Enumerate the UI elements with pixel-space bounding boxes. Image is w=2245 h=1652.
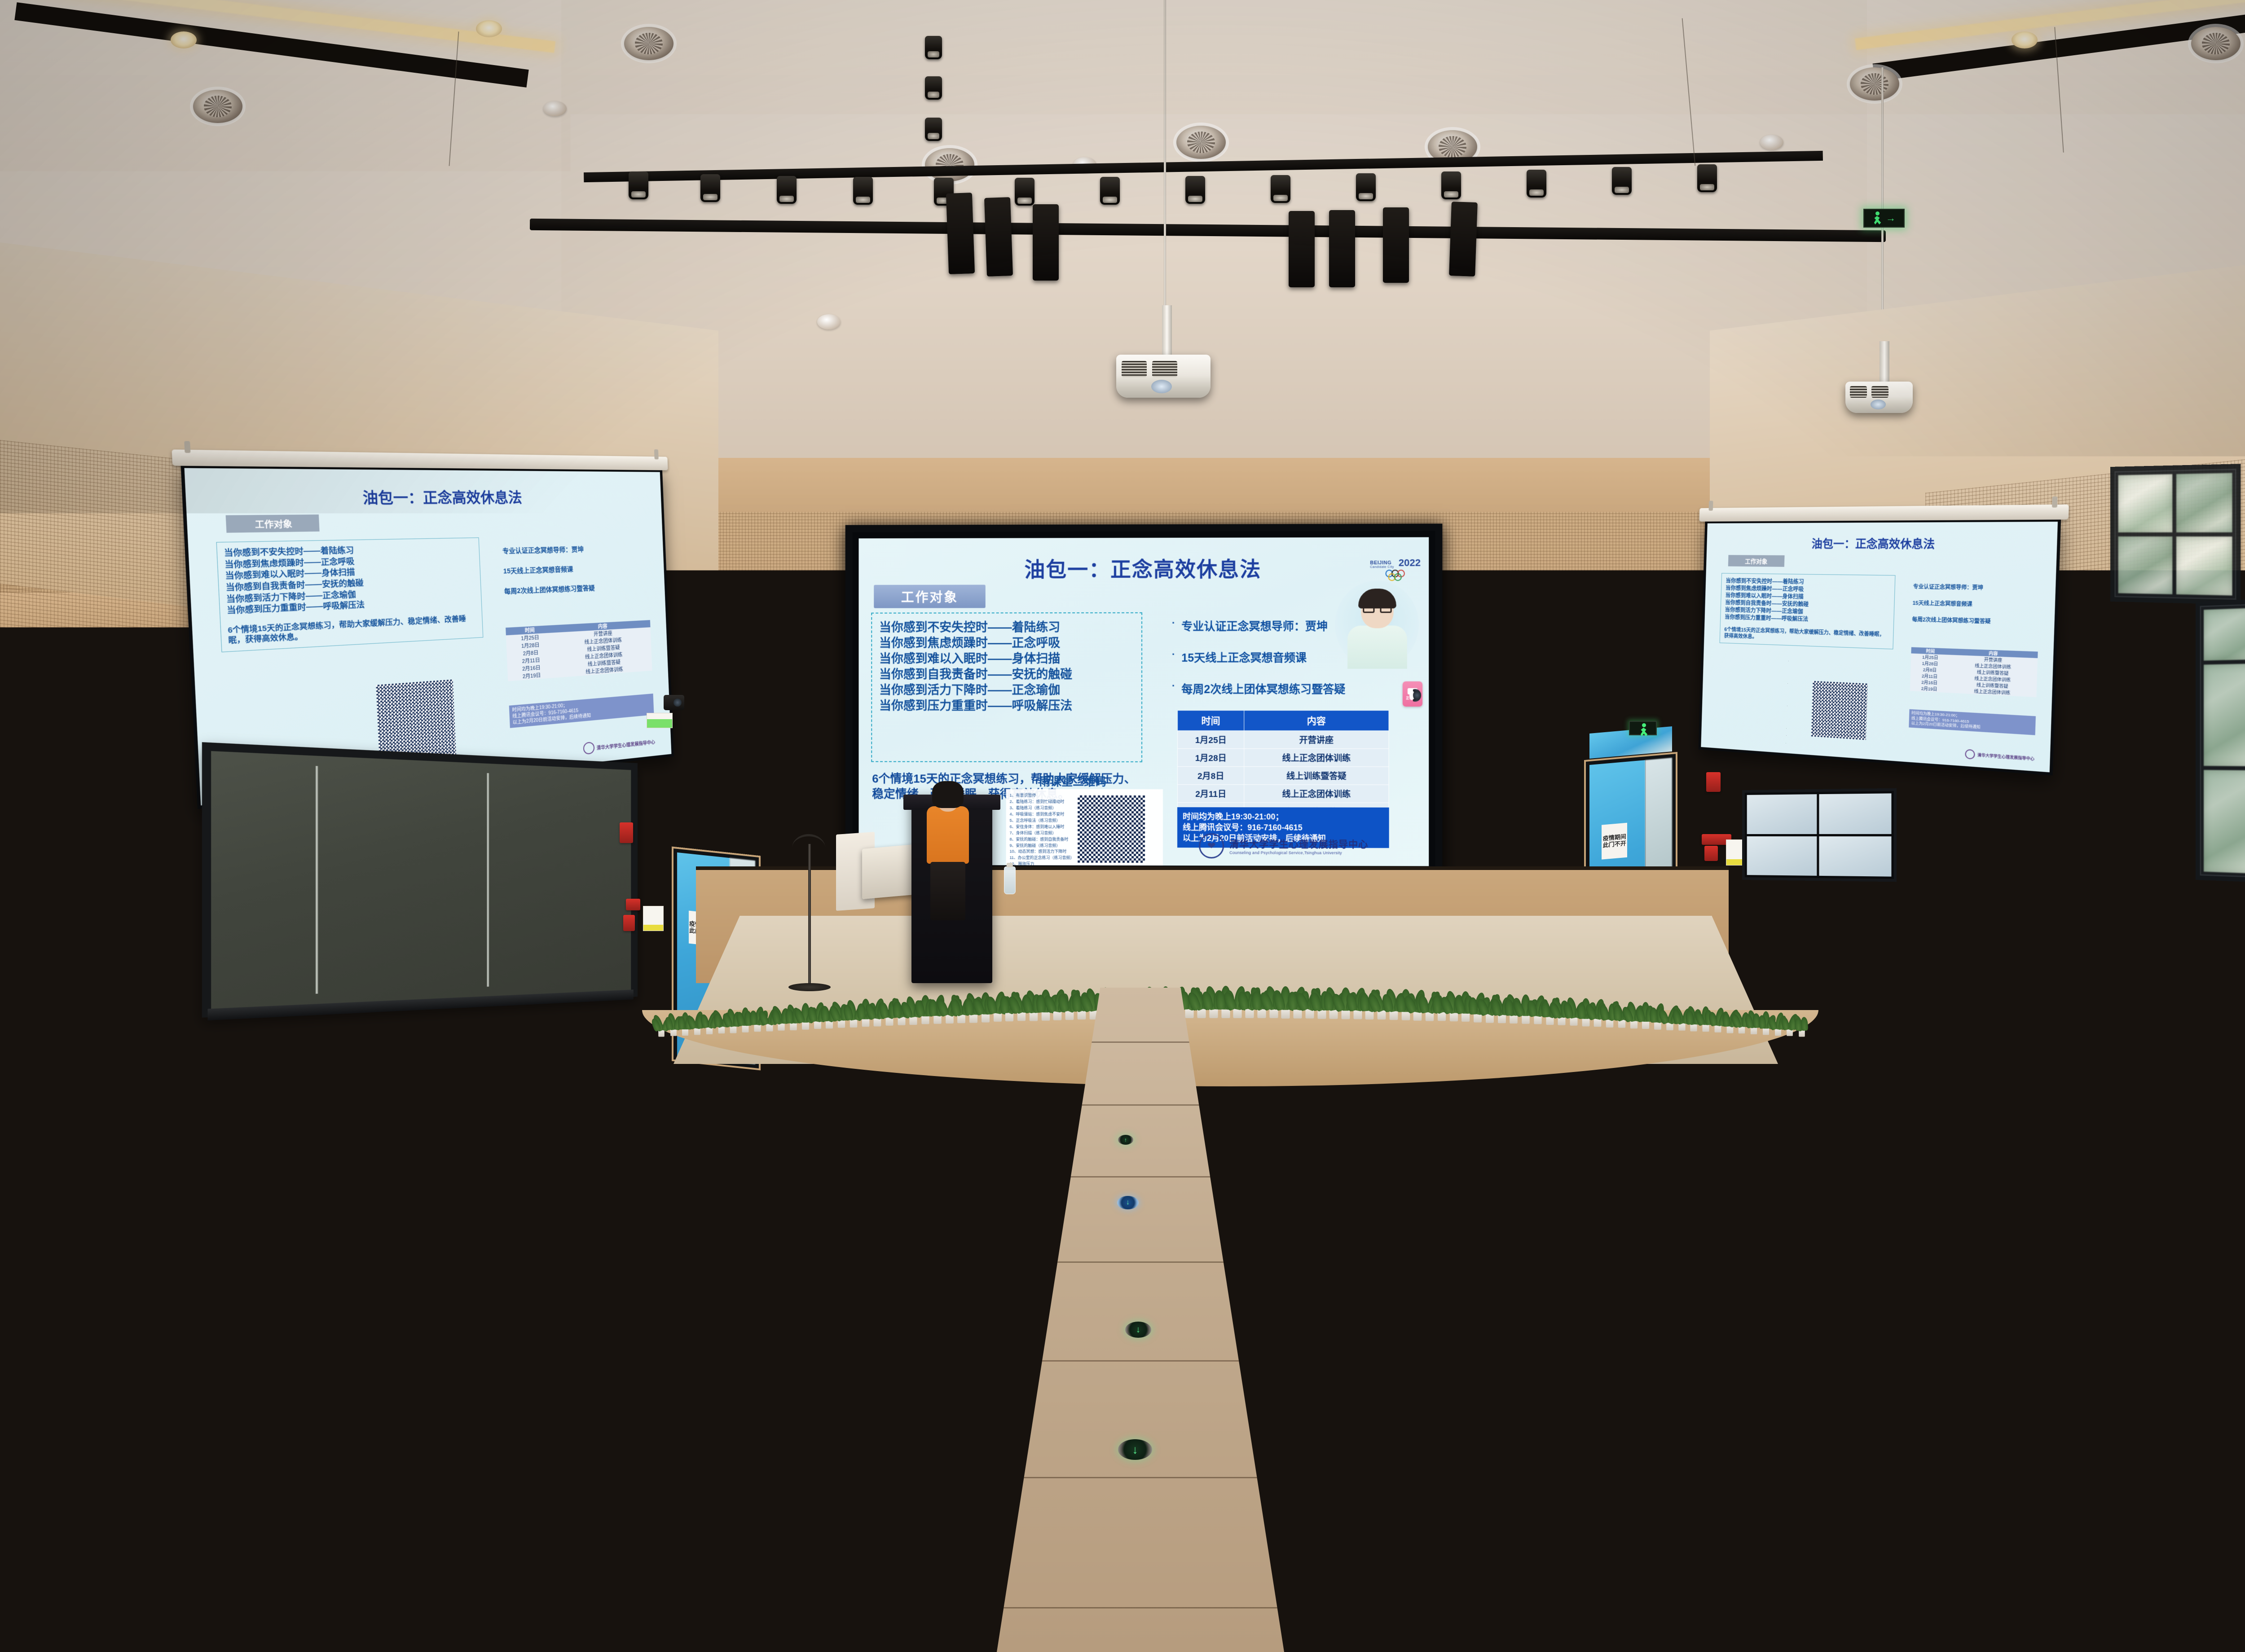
laptop[interactable] (2241, 1064, 2245, 1088)
laptop[interactable] (783, 1369, 853, 1415)
laptop[interactable] (1403, 1064, 1439, 1088)
laptop[interactable] (41, 1024, 72, 1045)
org-name-en: Counseling and Psychological Service,Tsi… (1229, 850, 1368, 855)
hair (665, 1204, 693, 1224)
laptop[interactable] (2135, 1112, 2177, 1139)
hair (561, 1048, 580, 1061)
face-mask (575, 1217, 591, 1227)
face-mask (2223, 1516, 2245, 1530)
hair (1560, 1204, 1589, 1224)
laptop[interactable] (359, 1064, 395, 1088)
laptop[interactable] (2049, 1296, 2111, 1337)
laptop[interactable] (2059, 1112, 2100, 1139)
face-mask (444, 1157, 458, 1165)
laptop[interactable] (682, 1064, 718, 1088)
section-tag: 工作对象 (874, 585, 986, 608)
lecture-hall-photo: 油包一：正念高效休息法 BEIJING Candidate City 2022 … (0, 0, 2245, 1652)
floor-direction-marker: ↓ (1125, 1322, 1151, 1338)
face-mask (381, 1516, 406, 1530)
bullet-label: 每周2次线上团体冥想练习暨答疑 (1181, 681, 1345, 697)
bullet-label: 每周2次线上团体冥想练习暨答疑 (504, 581, 648, 596)
hair (2210, 1093, 2232, 1109)
face-mask (188, 1284, 206, 1294)
cell-content: 开营讲座 (1244, 731, 1389, 749)
list-item: 6、安住身体：感到难以入睡时 (1010, 824, 1077, 830)
cell-content: 线上训练暨答疑 (1244, 767, 1389, 785)
face-mask (414, 1433, 436, 1446)
face-mask (204, 1157, 218, 1165)
face-mask (1608, 1157, 1622, 1165)
table-row: 1月28日 线上正念团体训练 (1178, 749, 1389, 767)
laptop[interactable] (887, 1369, 956, 1415)
laptop[interactable] (2224, 1166, 2245, 1198)
hair (1287, 1048, 1306, 1061)
water-bottle (215, 1372, 232, 1414)
hair (763, 969, 775, 978)
water-bottle (2180, 1168, 2192, 1196)
laptop[interactable] (0, 1369, 37, 1415)
hair (543, 1269, 576, 1292)
laptop[interactable] (431, 1296, 493, 1337)
hair (46, 1048, 65, 1061)
face-mask (742, 1217, 758, 1227)
list-item: 10、动态冥想：感到活力下降时 (1010, 849, 1077, 855)
laptop[interactable] (668, 1166, 716, 1198)
bullet-label: 15天线上正念冥想音频课 (503, 562, 648, 576)
hair (862, 969, 875, 978)
wall-speaker (1558, 643, 1583, 713)
laptop[interactable] (894, 1112, 936, 1139)
laptop[interactable] (2110, 1064, 2146, 1088)
hair (282, 1011, 299, 1022)
hair (834, 1204, 863, 1224)
laptop[interactable] (1681, 1024, 1712, 1045)
hair (119, 1093, 141, 1109)
laptop[interactable] (747, 1064, 783, 1088)
hair (0, 983, 13, 993)
organization-logo: 清华大学学生心理发展指导中心 (583, 735, 655, 755)
face-mask (1813, 1217, 1829, 1227)
laptop[interactable] (1865, 1296, 1927, 1337)
laptop[interactable] (475, 1228, 530, 1265)
face-mask (1931, 1217, 1947, 1227)
laptop[interactable] (100, 1024, 131, 1045)
laptop[interactable] (396, 1228, 451, 1265)
floor-direction-marker: ↓ (1118, 1439, 1152, 1460)
hair (348, 1269, 381, 1292)
laptop[interactable] (1736, 1024, 1767, 1045)
laptop[interactable] (1988, 1112, 2029, 1139)
hair (500, 1048, 519, 1061)
hair (1799, 1048, 1818, 1061)
laptop[interactable] (48, 1166, 96, 1198)
stage-spotlight (1015, 178, 1034, 206)
window-right-2 (2110, 464, 2241, 605)
laptop[interactable] (684, 1024, 715, 1045)
laptop[interactable] (370, 1369, 440, 1415)
hair (1307, 1204, 1335, 1224)
laptop[interactable] (2178, 1064, 2214, 1088)
laptop[interactable] (992, 1296, 1054, 1337)
laptop[interactable] (1495, 1112, 1537, 1139)
laptop[interactable] (736, 1228, 791, 1265)
hair (1454, 1011, 1470, 1022)
laptop[interactable] (2153, 1228, 2208, 1265)
laptop[interactable] (160, 1024, 191, 1045)
hair (0, 1339, 19, 1365)
floor-direction-marker: ↑ (1118, 1135, 1133, 1145)
laptop[interactable] (981, 1166, 1029, 1198)
fire-alarm-pull-station[interactable] (1704, 846, 1718, 861)
laptop[interactable] (568, 1531, 654, 1589)
face-mask (578, 1516, 603, 1530)
laptop[interactable] (217, 1024, 248, 1045)
fire-alarm-pull-station[interactable] (623, 915, 635, 931)
laptop[interactable] (995, 1228, 1050, 1265)
laptop[interactable] (218, 1228, 273, 1265)
hair (374, 983, 387, 993)
laptop[interactable] (39, 1112, 81, 1139)
laptop[interactable] (123, 1166, 172, 1198)
desk-power-port (2214, 1045, 2238, 1052)
hair (110, 1048, 128, 1061)
hair (1321, 1339, 1357, 1365)
water-bottle (172, 1230, 186, 1263)
situation-line: 当你感到不安失控时——着陆练习 (879, 619, 1134, 636)
hair (2019, 983, 2033, 993)
laptop[interactable] (1972, 1024, 2003, 1045)
hair (211, 969, 224, 978)
hair (402, 1093, 424, 1109)
hanging-speaker (1383, 207, 1409, 283)
laptop[interactable] (1773, 1296, 1835, 1337)
laptop[interactable] (1984, 1064, 2020, 1088)
bullet-label: 专业认证正念冥想导师：贾坤 (1913, 582, 2040, 592)
glasses-icon (1363, 606, 1391, 613)
laptop[interactable] (467, 1112, 509, 1139)
lecture-desk (0, 1587, 970, 1610)
laptop[interactable] (1272, 1024, 1303, 1045)
hair (109, 969, 121, 978)
laptop[interactable] (357, 1166, 405, 1198)
laptop[interactable] (2088, 1024, 2119, 1045)
laptop[interactable] (65, 1369, 134, 1415)
hair (229, 1204, 258, 1224)
hair (47, 1011, 63, 1022)
hair (1926, 1145, 1951, 1163)
hair (663, 969, 676, 978)
face-mask (906, 1157, 920, 1165)
column-header-time: 时间 (1178, 711, 1244, 731)
olympic-tagline: Candidate City (1370, 566, 1394, 569)
desk-power-port (132, 1013, 154, 1019)
laptop[interactable] (1365, 1166, 1413, 1198)
laptop[interactable] (905, 1228, 960, 1265)
face-mask (938, 1284, 955, 1294)
laptop[interactable] (1568, 1112, 1610, 1139)
laptop[interactable] (1295, 1228, 1350, 1265)
hair (1291, 1093, 1313, 1109)
hair (1568, 969, 1580, 978)
hair (1346, 1048, 1365, 1061)
hair (1410, 1048, 1429, 1061)
laptop[interactable] (1723, 1369, 1792, 1415)
hair (1966, 983, 1980, 993)
hair (52, 983, 66, 993)
laptop[interactable] (985, 1369, 1054, 1415)
smoke-detector (543, 101, 567, 116)
laptop[interactable] (276, 1166, 324, 1198)
laptop[interactable] (594, 1166, 642, 1198)
hvac-vent (193, 90, 242, 123)
fire-alarm-pull-station[interactable] (620, 822, 633, 843)
emergency-exit-sign: → (1863, 209, 1905, 228)
hair (183, 1339, 220, 1365)
laptop[interactable] (963, 1112, 1005, 1139)
hair (807, 1011, 823, 1022)
hair (1012, 983, 1026, 993)
hair (282, 1339, 319, 1365)
program-bullets: · 专业认证正念冥想导师：贾坤 · 15天线上正念冥想音频课 · 每周2次线上团… (1172, 617, 1406, 712)
hair (886, 1048, 905, 1061)
face-mask (1710, 1157, 1724, 1165)
laptop[interactable] (1468, 1064, 1504, 1088)
hair (2159, 1269, 2192, 1292)
laptop[interactable] (1410, 1369, 1480, 1415)
hair (147, 1204, 176, 1224)
laptop[interactable] (1640, 1112, 1682, 1139)
laptop[interactable] (243, 1296, 305, 1337)
hair (851, 983, 865, 993)
org-name-cn: 清华大学学生心理发展指导中心 (1977, 752, 2034, 761)
laptop[interactable] (306, 1228, 361, 1265)
hair (2114, 1415, 2155, 1443)
laptop[interactable] (1853, 1064, 1889, 1088)
hair (830, 1093, 852, 1109)
laptop[interactable] (1423, 1112, 1465, 1139)
practice-list: 1、有意识暂停 2、着陆练习：感到忙碌躁动时 3、着陆练习（练习音频） 4、呼吸… (1010, 793, 1077, 866)
laptop[interactable] (235, 1064, 271, 1088)
laptop[interactable] (1448, 1024, 1479, 1045)
laptop[interactable] (208, 1531, 294, 1589)
laptop[interactable] (2169, 1531, 2245, 1589)
situation-line: 当你感到压力重重时——呼吸解压法 (879, 698, 1134, 714)
laptop[interactable] (2229, 1369, 2245, 1415)
laptop[interactable] (2026, 1369, 2096, 1415)
projector-lens (1151, 380, 1172, 393)
list-item: 9、安抚的触碰（练习音频） (1010, 843, 1077, 849)
laptop[interactable] (0, 1166, 17, 1198)
hanging-speaker (1289, 211, 1315, 287)
hair (1858, 983, 1872, 993)
hair (631, 1011, 647, 1022)
hair (2168, 969, 2181, 978)
hair (1786, 1269, 1819, 1292)
hair (1530, 1145, 1555, 1163)
face-mask (141, 1516, 167, 1530)
hair (1336, 1011, 1352, 1022)
hair (1645, 983, 1659, 993)
hair (0, 1093, 4, 1109)
hair (692, 1339, 729, 1365)
laptop[interactable] (449, 1024, 480, 1045)
wall-speaker (736, 650, 762, 720)
list-item: 12、释放压力 (1010, 861, 1077, 866)
laptop[interactable] (335, 1296, 397, 1337)
hair (2069, 969, 2081, 978)
hair (1392, 1011, 1409, 1022)
laptop[interactable] (807, 1296, 869, 1337)
schedule-note: 时间均为晚上19:30-21:00； 线上腾讯会议号：916-7160-4615… (509, 694, 654, 728)
monitor-panel (1819, 836, 1892, 877)
hair (243, 1048, 262, 1061)
hair (462, 969, 475, 978)
desk-power-port (1537, 1013, 1559, 1019)
schedule-table: 时间 内容 1月25日开营讲座 1月28日线上正念团体训练 2月8日线上训练暨答… (506, 620, 652, 681)
face-mask (109, 1356, 129, 1368)
face-mask (2019, 1217, 2035, 1227)
hair (999, 1339, 1036, 1365)
hair (61, 969, 74, 978)
hair (359, 969, 372, 978)
laptop[interactable] (1896, 1228, 1950, 1265)
water-bottle (1585, 1230, 1599, 1263)
hair (1065, 983, 1079, 993)
situation-list: 当你感到不安失控时——着陆练习 当你感到焦虑烦躁时——正念呼吸 当你感到难以入眠… (871, 612, 1142, 762)
fire-alarm-pull-station[interactable] (1706, 772, 1721, 792)
face-mask (2153, 1157, 2167, 1165)
hair (223, 1011, 239, 1022)
org-name-cn: 清华大学学生心理发展指导中心 (596, 738, 655, 751)
hair (462, 1495, 507, 1527)
face-mask (1658, 1433, 1681, 1446)
hair (107, 1011, 123, 1022)
stage-spotlight (1100, 177, 1120, 205)
laptop[interactable] (1386, 1024, 1417, 1045)
slide-summary: 6个情境15天的正念冥想练习，帮助大家缓解压力、稳定情绪、改善睡眠，获得高效休息… (1724, 626, 1889, 645)
laptop[interactable] (813, 1064, 849, 1088)
wall-monitor-array (1742, 788, 1897, 882)
laptop[interactable] (800, 1024, 831, 1045)
laptop[interactable] (2233, 1228, 2245, 1265)
hair (2004, 1145, 2029, 1163)
column-header-content: 内容 (1244, 711, 1389, 731)
stage-spotlight (700, 174, 720, 202)
desk-power-port (1985, 1589, 2038, 1602)
olympic-rings-icon (1386, 570, 1417, 580)
situation-line: 当你感到活力下降时——正念瑜伽 (879, 682, 1134, 698)
laptop[interactable] (2201, 1112, 2243, 1139)
hair (2212, 1011, 2228, 1022)
laptop[interactable] (0, 1064, 12, 1088)
hair (1442, 1415, 1483, 1443)
hvac-vent (925, 148, 974, 181)
hair (531, 983, 545, 993)
laptop[interactable] (1299, 1296, 1360, 1337)
laptop[interactable] (1854, 1024, 1885, 1045)
hvac-vent (624, 27, 673, 60)
stage-spotlight (853, 177, 873, 205)
laptop[interactable] (1597, 1064, 1633, 1088)
ceiling-downlight (2012, 31, 2038, 48)
laptop[interactable] (2068, 1166, 2116, 1198)
hair (1750, 983, 1764, 993)
hair (585, 983, 599, 993)
laptop[interactable] (821, 1112, 863, 1139)
hair (2035, 1011, 2051, 1022)
hair (2068, 1093, 2090, 1109)
stage-spotlight (925, 36, 942, 59)
laptop[interactable] (530, 1296, 592, 1337)
wall-camera (664, 695, 684, 710)
hair (2222, 969, 2234, 978)
desk-power-port (344, 996, 365, 1002)
laptop[interactable] (110, 1112, 151, 1139)
laptop[interactable] (572, 1369, 642, 1415)
hair (2186, 1048, 2205, 1061)
hair (631, 1269, 664, 1292)
qr-card: 1、有意识暂停 2、着陆练习：感到忙碌躁动时 3、着陆练习（练习音频） 4、呼吸… (1006, 789, 1163, 866)
water-bottle (356, 1113, 367, 1138)
laptop[interactable] (677, 1369, 747, 1415)
hair (925, 1011, 942, 1022)
hair (1604, 1048, 1623, 1061)
desk-power-port (1333, 1139, 1363, 1147)
hair (1718, 1093, 1740, 1109)
hair (1511, 1011, 1527, 1022)
table-row: 2月11日 线上正念团体训练 (1178, 785, 1389, 803)
slide-title: 油包一：正念高效休息法 (185, 485, 661, 509)
laptop[interactable] (919, 1024, 950, 1045)
laptop[interactable] (1282, 1112, 1324, 1139)
hair (1802, 1011, 1818, 1022)
qr-code-image[interactable] (1811, 681, 1868, 740)
heart-shield-icon (583, 742, 594, 755)
list-item: 3、着陆练习（练习音频） (1010, 805, 1077, 811)
hair (367, 1048, 386, 1061)
hair (0, 1204, 8, 1224)
water-bottle (517, 1372, 534, 1414)
fire-alarm-pull-station[interactable] (626, 899, 640, 910)
laptop[interactable] (1724, 1064, 1760, 1088)
hair (304, 1048, 323, 1061)
laptop[interactable] (898, 1296, 960, 1337)
olympic-city: BEIJING (1370, 560, 1391, 566)
face-mask (791, 1356, 811, 1368)
qr-code-image[interactable] (1078, 795, 1145, 863)
face-mask (1984, 1516, 2009, 1530)
list-item: 11、办公室的正念练习（练习音频） (1010, 855, 1077, 861)
ceiling-projector (1845, 382, 1913, 413)
laptop[interactable] (2045, 1064, 2081, 1088)
laptop[interactable] (1031, 1024, 1062, 1045)
stage-spotlight (1527, 170, 1546, 198)
hair (2144, 1093, 2166, 1109)
laptop[interactable] (1921, 1064, 1957, 1088)
bullet-label: 15天线上正念冥想音频课 (1181, 649, 1306, 665)
face-mask (481, 1217, 497, 1227)
laptop[interactable] (1603, 1166, 1651, 1198)
laptop[interactable] (276, 1024, 307, 1045)
face-mask (2001, 1284, 2019, 1294)
laptop[interactable] (878, 1064, 914, 1088)
laptop[interactable] (1807, 1228, 1862, 1265)
laptop[interactable] (1485, 1296, 1547, 1337)
hair (2118, 1048, 2137, 1061)
hair (1474, 1204, 1502, 1224)
laptop[interactable] (1329, 1024, 1360, 1045)
hair (456, 1011, 472, 1022)
